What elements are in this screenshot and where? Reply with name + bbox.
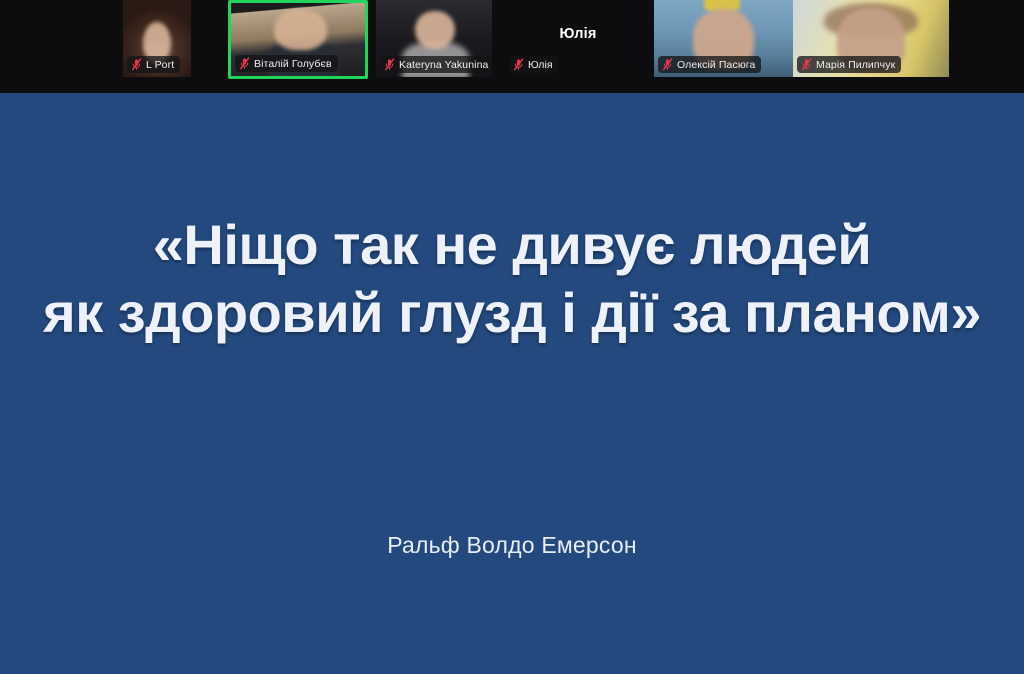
mic-off-icon — [513, 58, 524, 71]
slide-quote-line-2: як здоровий глузд і дії за планом» — [28, 279, 996, 347]
participant-name-pill: Юлія — [509, 56, 559, 73]
participant-name-label: Kateryna Yakunina — [399, 59, 488, 71]
mic-off-icon — [384, 58, 395, 71]
meeting-screen: L Port Віталій Голубєв — [0, 0, 1024, 674]
participant-name-pill: Kateryna Yakunina — [380, 56, 491, 73]
slide-quote: «Ніщо так не дивує людей як здоровий глу… — [0, 211, 1024, 347]
participant-name-label: Юлія — [528, 59, 553, 71]
participant-tile-l-port[interactable]: L Port — [123, 0, 191, 77]
slide-quote-author: Ральф Волдо Емерсон — [0, 530, 1024, 560]
participant-placeholder-name: Юлія — [505, 26, 651, 42]
participant-name-pill: Віталій Голубєв — [235, 55, 338, 72]
participant-tile-oleksii-pasiuha[interactable]: Олексій Пасюга — [654, 0, 793, 77]
participant-name-label: L Port — [146, 59, 174, 71]
mic-off-icon — [131, 58, 142, 71]
shared-screen-slide: «Ніщо так не дивує людей як здоровий глу… — [0, 93, 1024, 674]
mic-off-icon — [801, 58, 812, 71]
mic-off-icon — [239, 57, 250, 70]
slide-quote-line-1: «Ніщо так не дивує людей — [28, 211, 996, 279]
participant-name-label: Марія Пилипчук — [816, 59, 895, 71]
participant-tile-mariia-pylypchuk[interactable]: Марія Пилипчук — [793, 0, 949, 77]
participant-name-label: Віталій Голубєв — [254, 58, 332, 70]
participant-name-pill: Марія Пилипчук — [797, 56, 901, 73]
participant-filmstrip: L Port Віталій Голубєв — [0, 0, 1024, 93]
participant-name-pill: L Port — [127, 56, 180, 73]
mic-off-icon — [662, 58, 673, 71]
participant-name-label: Олексій Пасюга — [677, 59, 755, 71]
participant-name-pill: Олексій Пасюга — [658, 56, 761, 73]
participant-tile-yuliia[interactable]: Юлія Юлія — [505, 0, 651, 77]
participant-tile-vitalii-holubiev[interactable]: Віталій Голубєв — [228, 0, 368, 79]
participant-tile-kateryna-yakunina[interactable]: Kateryna Yakunina — [376, 0, 492, 77]
